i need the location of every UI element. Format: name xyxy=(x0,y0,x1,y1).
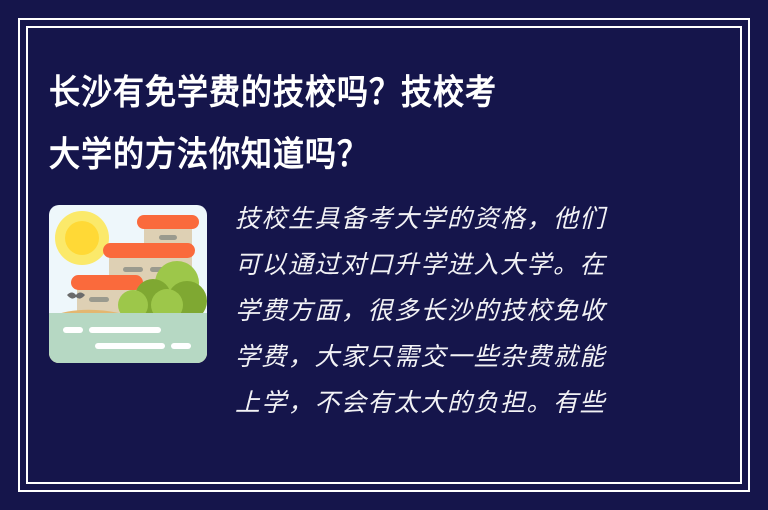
water-panel xyxy=(49,313,207,363)
placeholder-line-1a xyxy=(63,327,83,333)
body-line: 学费，大家只需交一些杂费就能 xyxy=(235,335,655,381)
placeholder-line-1b xyxy=(89,327,161,333)
sun-core xyxy=(65,221,99,255)
building-back-roof xyxy=(137,215,199,229)
page-title: 长沙有免学费的技校吗？技校考 大学的方法你知道吗？ xyxy=(49,58,659,182)
body-paragraph: 技校生具备考大学的资格，他们 可以通过对口升学进入大学。在 学费方面，很多长沙的… xyxy=(235,197,655,427)
content-row: 技校生具备考大学的资格，他们 可以通过对口升学进入大学。在 学费方面，很多长沙的… xyxy=(49,197,719,427)
body-line: 技校生具备考大学的资格，他们 xyxy=(235,197,655,243)
building-mid-window-left xyxy=(123,267,143,272)
poster-canvas: 长沙有免学费的技校吗？技校考 大学的方法你知道吗？ xyxy=(0,0,768,510)
body-line: 上学，不会有太大的负担。有些 xyxy=(235,381,655,427)
building-back-window xyxy=(159,235,177,240)
body-line: 可以通过对口升学进入大学。在 xyxy=(235,243,655,289)
placeholder-line-2a xyxy=(95,343,165,349)
building-front-window xyxy=(89,297,109,302)
building-mid-roof xyxy=(103,243,195,258)
building-front-roof xyxy=(71,275,143,290)
placeholder-line-2b xyxy=(171,343,191,349)
body-line: 学费方面，很多长沙的技校免收 xyxy=(235,289,655,335)
title-line-1: 长沙有免学费的技校吗？技校考 xyxy=(49,58,659,127)
campus-landscape-illustration xyxy=(49,205,207,363)
title-line-2: 大学的方法你知道吗？ xyxy=(49,120,659,189)
illustration-svg xyxy=(49,205,207,363)
